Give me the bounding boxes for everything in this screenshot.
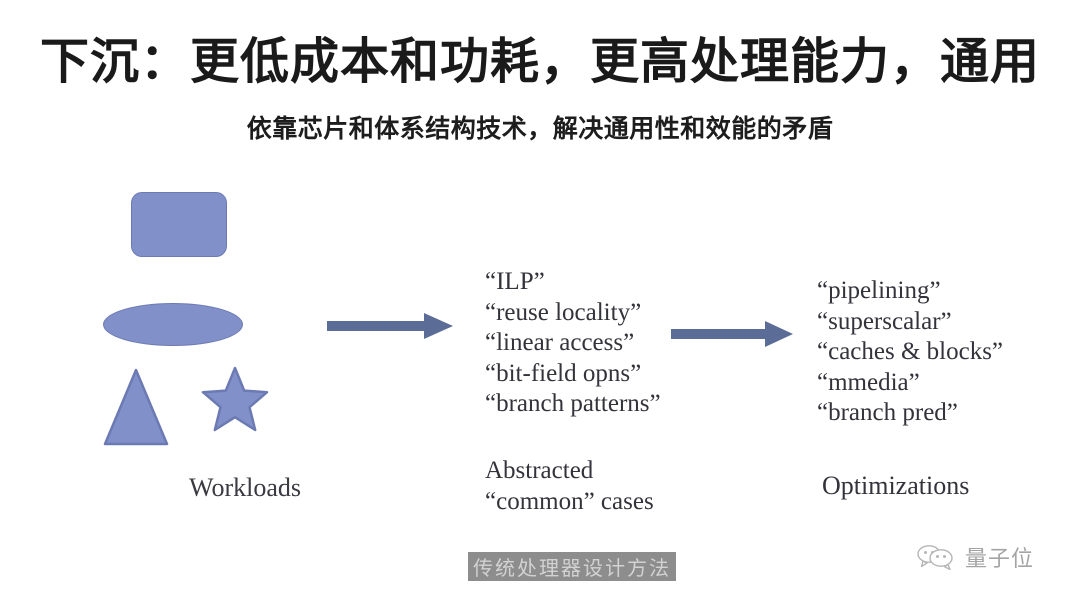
list-item: “mmedia”: [817, 368, 1003, 399]
slide-canvas: 下沉：更低成本和功耗，更高处理能力，通用 依靠芯片和体系结构技术，解决通用性和效…: [0, 0, 1080, 604]
list-item: “branch pred”: [817, 398, 1003, 429]
optimizations-list: “pipelining” “superscalar” “caches & blo…: [817, 276, 1003, 429]
caption-line: Abstracted: [485, 455, 654, 486]
star-shape: [201, 366, 269, 434]
list-item: “pipelining”: [817, 276, 1003, 307]
list-item: “superscalar”: [817, 307, 1003, 338]
list-item: “caches & blocks”: [817, 337, 1003, 368]
page-title: 下沉：更低成本和功耗，更高处理能力，通用: [0, 33, 1080, 91]
abstracted-cases-list: “ILP” “reuse locality” “linear access” “…: [485, 267, 661, 420]
list-item: “linear access”: [485, 328, 661, 359]
list-item: “branch patterns”: [485, 389, 661, 420]
wechat-bubbles-icon: [916, 544, 956, 570]
list-item: “reuse locality”: [485, 298, 661, 329]
list-item: “ILP”: [485, 267, 661, 298]
arrow-right-icon-second: [671, 318, 793, 350]
workloads-label: Workloads: [189, 472, 301, 503]
page-subtitle: 依靠芯片和体系结构技术，解决通用性和效能的矛盾: [0, 113, 1080, 145]
watermark: 量子位: [916, 541, 1034, 573]
abstracted-cases-caption: Abstracted “common” cases: [485, 455, 654, 517]
list-item: “bit-field opns”: [485, 359, 661, 390]
bottom-caption-text: 传统处理器设计方法: [473, 552, 671, 581]
optimizations-caption: Optimizations: [822, 470, 969, 501]
ellipse-shape: [103, 303, 243, 346]
arrow-right-icon-first: [327, 310, 453, 342]
triangle-shape: [103, 368, 169, 446]
caption-line: “common” cases: [485, 486, 654, 517]
watermark-text: 量子位: [965, 541, 1034, 573]
rounded-rectangle-shape: [131, 192, 227, 257]
bottom-caption-band: 传统处理器设计方法: [468, 552, 676, 581]
